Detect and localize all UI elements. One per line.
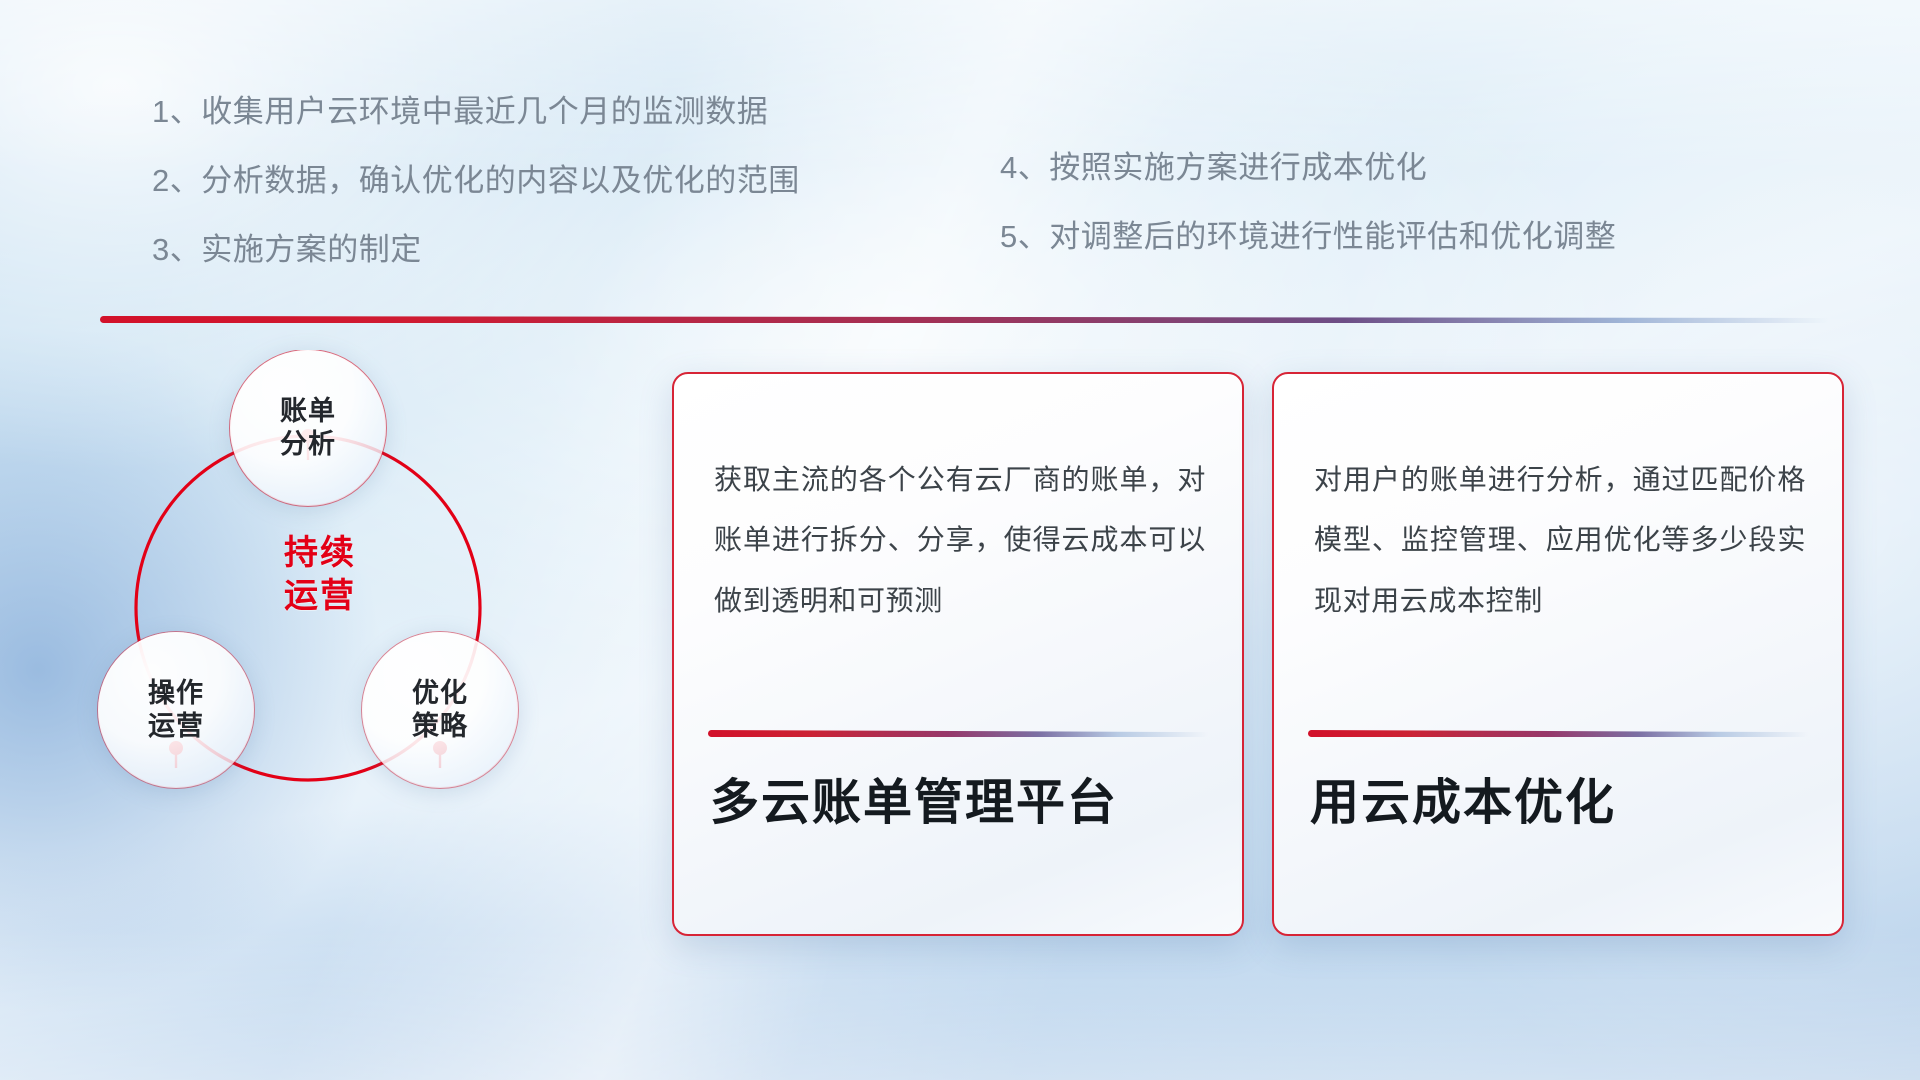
feature-card-2-rule <box>1308 730 1808 737</box>
diagram-node-operation-label: 操作运营 <box>148 677 204 743</box>
diagram-node-operation[interactable]: 操作运营 <box>98 632 254 788</box>
continuous-operation-diagram: 账单分析 操作运营 优化策略 持续运营 <box>90 350 610 960</box>
diagram-node-bill-analysis-label: 账单分析 <box>280 395 336 461</box>
feature-card-cost-optimization[interactable]: 对用户的账单进行分析，通过匹配价格模型、监控管理、应用优化等多少段实现对用云成本… <box>1272 372 1844 936</box>
step-item-2: 2、分析数据，确认优化的内容以及优化的范围 <box>152 165 800 196</box>
diagram-node-bill-analysis[interactable]: 账单分析 <box>230 350 386 506</box>
step-item-1: 1、收集用户云环境中最近几个月的监测数据 <box>152 96 800 127</box>
feature-card-2-description: 对用户的账单进行分析，通过匹配价格模型、监控管理、应用优化等多少段实现对用云成本… <box>1314 450 1806 631</box>
steps-column-left: 1、收集用户云环境中最近几个月的监测数据 2、分析数据，确认优化的内容以及优化的… <box>152 96 800 265</box>
feature-card-multicloud-billing[interactable]: 获取主流的各个公有云厂商的账单，对账单进行拆分、分享，使得云成本可以做到透明和可… <box>672 372 1244 936</box>
steps-list: 1、收集用户云环境中最近几个月的监测数据 2、分析数据，确认优化的内容以及优化的… <box>0 0 1920 300</box>
diagram-node-optimization-strategy-label: 优化策略 <box>412 677 468 743</box>
feature-card-1-rule <box>708 730 1208 737</box>
feature-card-1-title: 多云账单管理平台 <box>710 774 1210 833</box>
step-item-5: 5、对调整后的环境进行性能评估和优化调整 <box>1000 221 1616 252</box>
diagram-center-label: 持续运营 <box>240 532 400 617</box>
step-item-3: 3、实施方案的制定 <box>152 234 800 265</box>
feature-card-2-title: 用云成本优化 <box>1310 774 1810 833</box>
feature-card-1-description: 获取主流的各个公有云厂商的账单，对账单进行拆分、分享，使得云成本可以做到透明和可… <box>714 450 1206 631</box>
step-item-4: 4、按照实施方案进行成本优化 <box>1000 152 1616 183</box>
steps-column-right: 4、按照实施方案进行成本优化 5、对调整后的环境进行性能评估和优化调整 <box>1000 152 1616 252</box>
diagram-node-optimization-strategy[interactable]: 优化策略 <box>362 632 518 788</box>
